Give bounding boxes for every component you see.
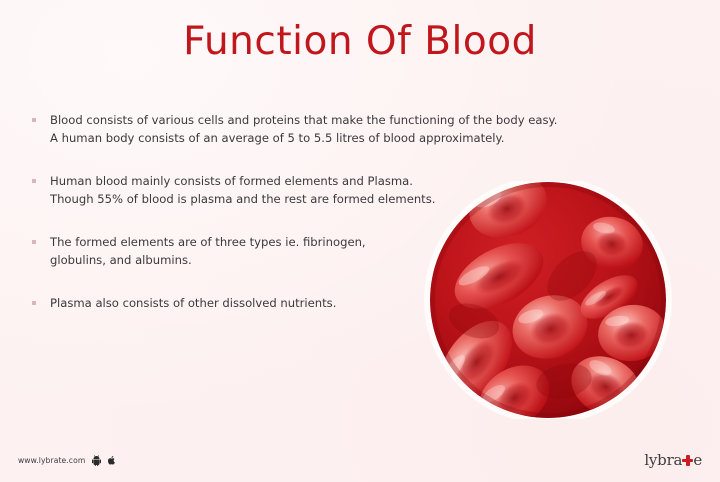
bullet-line: Blood consists of various cells and prot…	[50, 112, 590, 130]
medical-cross-icon	[682, 455, 693, 466]
bullet-line: globulins, and albumins.	[50, 252, 590, 270]
bullet-line: Though 55% of blood is plasma and the re…	[50, 191, 590, 209]
bullet-list: Blood consists of various cells and prot…	[30, 112, 590, 339]
list-item: Blood consists of various cells and prot…	[30, 112, 590, 147]
android-icon	[92, 455, 101, 466]
poster-canvas: Function Of Blood Blood consists of vari…	[0, 0, 720, 482]
square-bullet-icon	[32, 179, 36, 183]
list-item: Human blood mainly consists of formed el…	[30, 173, 590, 208]
apple-icon	[108, 455, 116, 466]
bullet-line: A human body consists of an average of 5…	[50, 130, 590, 148]
website-url: www.lybrate.com	[18, 456, 85, 465]
page-title: Function Of Blood	[0, 18, 720, 66]
brand-logo-text-after: e	[693, 451, 702, 469]
bullet-line: Human blood mainly consists of formed el…	[50, 173, 590, 191]
bullet-line: Plasma also consists of other dissolved …	[50, 295, 590, 313]
brand-logo: lybra e	[644, 451, 702, 469]
list-item: The formed elements are of three types i…	[30, 234, 590, 269]
square-bullet-icon	[32, 301, 36, 305]
list-item: Plasma also consists of other dissolved …	[30, 295, 590, 313]
square-bullet-icon	[32, 118, 36, 122]
square-bullet-icon	[32, 240, 36, 244]
brand-logo-text-before: lybra	[644, 451, 682, 469]
bullet-line: The formed elements are of three types i…	[50, 234, 590, 252]
footer-left: www.lybrate.com	[18, 455, 116, 466]
